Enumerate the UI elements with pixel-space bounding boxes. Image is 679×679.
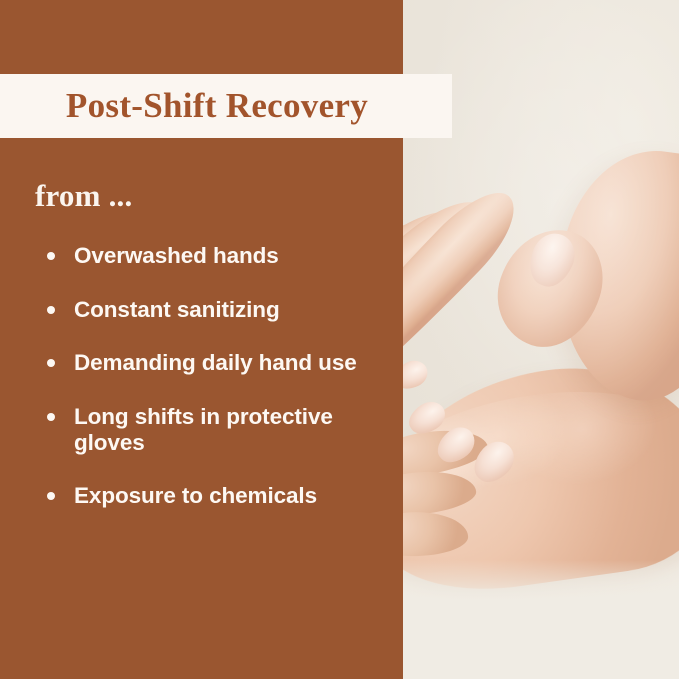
page-title: Post-Shift Recovery — [66, 86, 386, 126]
title-banner: Post-Shift Recovery — [0, 74, 452, 138]
list-item-label: Demanding daily hand use — [74, 350, 357, 375]
bullet-dot-icon — [47, 492, 55, 500]
list-item-label: Constant sanitizing — [74, 297, 280, 322]
photo-bottom-fade — [380, 560, 679, 679]
list-item: Exposure to chemicals — [44, 483, 374, 509]
bullet-dot-icon — [47, 359, 55, 367]
list-item: Long shifts in protective gloves — [44, 404, 374, 455]
list-item-label: Long shifts in protective gloves — [74, 404, 333, 455]
kicker-text: from ... — [35, 178, 132, 214]
list-item: Constant sanitizing — [44, 297, 374, 323]
bullet-dot-icon — [47, 413, 55, 421]
list-item: Demanding daily hand use — [44, 350, 374, 376]
bullet-dot-icon — [47, 252, 55, 260]
bullet-dot-icon — [47, 306, 55, 314]
list-item: Overwashed hands — [44, 243, 374, 269]
list-item-label: Overwashed hands — [74, 243, 279, 268]
poster-canvas: Post-Shift Recovery from ... Overwashed … — [0, 0, 679, 679]
list-item-label: Exposure to chemicals — [74, 483, 317, 508]
benefits-list: Overwashed hands Constant sanitizing Dem… — [44, 243, 374, 509]
